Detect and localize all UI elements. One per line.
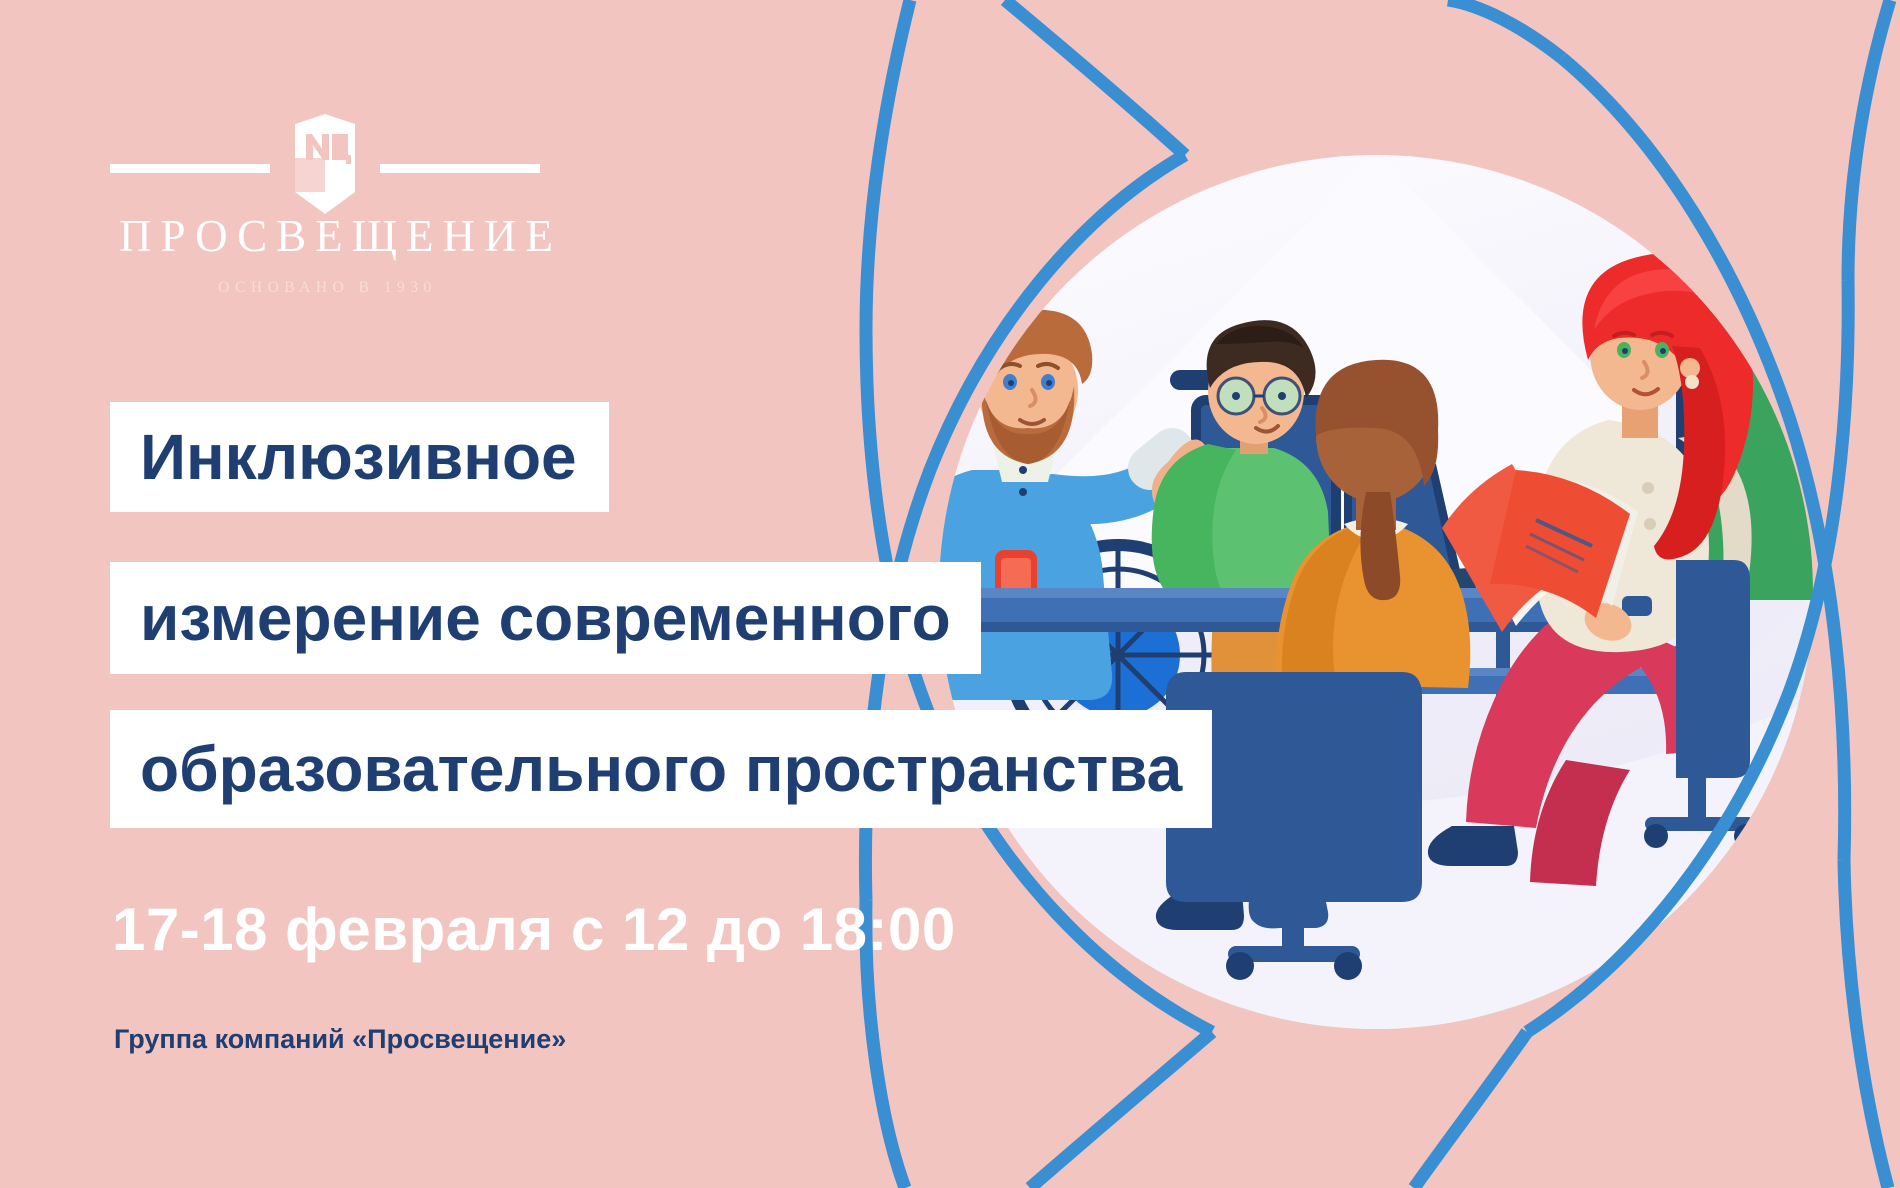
brand-logo: ПРОСВЕЩЕНИЕ ОСНОВАНО В 1930 [110,100,540,297]
logo-tagline: ОСНОВАНО В 1930 [110,279,540,297]
event-date-time: 17-18 февраля с 12 до 18:00 [112,895,956,964]
shield-emblem-icon [292,112,358,216]
event-organizer: Группа компаний «Просвещение» [114,1024,566,1055]
headline-line-1: Инклюзивное [110,402,609,512]
logo-rule-right [380,164,540,173]
promo-poster: ПРОСВЕЩЕНИЕ ОСНОВАНО В 1930 Инклюзивное … [0,0,1900,1188]
headline-line-2: измерение современного [110,562,981,674]
headline-line-3: образовательного пространства [110,710,1212,828]
logo-wordmark: ПРОСВЕЩЕНИЕ [110,214,540,259]
logo-emblem-row [110,100,540,220]
logo-rule-left [110,164,270,173]
